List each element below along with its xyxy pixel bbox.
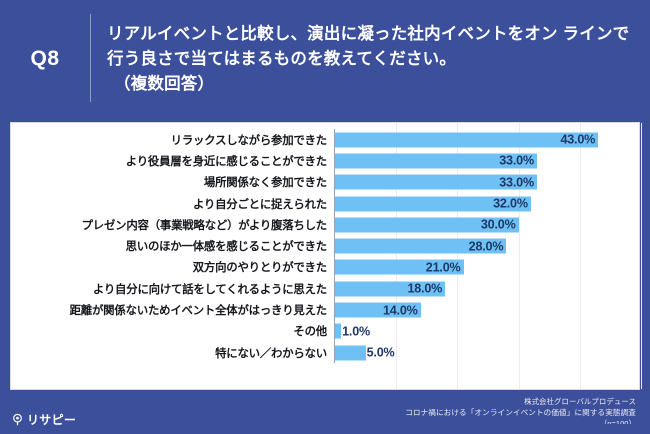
bar-category-label: より自分に向けて話をしてくれるように思えた bbox=[11, 281, 334, 297]
bar: 5.0% bbox=[335, 345, 366, 360]
brand-logo-text: リサピー bbox=[27, 411, 76, 428]
brand-logo[interactable]: リサピー bbox=[0, 404, 120, 434]
bar-value-label: 18.0% bbox=[407, 282, 445, 296]
bar: 43.0% bbox=[335, 132, 598, 147]
question-text: リアルイベントと比較し、演出に凝った社内イベントをオン ラインで行う良さで当ては… bbox=[91, 22, 650, 97]
bar-row: より自分に向けて話をしてくれるように思えた18.0% bbox=[11, 278, 639, 299]
bar-track: 30.0% bbox=[334, 214, 639, 235]
bar-category-label: 場所関係なく参加できた bbox=[11, 174, 334, 190]
bar-track: 32.0% bbox=[334, 193, 639, 214]
bar: 30.0% bbox=[335, 217, 519, 232]
bar-value-label: 21.0% bbox=[426, 260, 464, 274]
bar-value-label: 14.0% bbox=[383, 303, 421, 317]
bar-track: 14.0% bbox=[334, 299, 639, 320]
credit-company: 株式会社グローバルプロデュース bbox=[405, 396, 636, 407]
bar-track: 43.0% bbox=[334, 129, 639, 150]
bar-row: 距離が関係ないためイベント全体がはっきり見えた14.0% bbox=[11, 299, 639, 320]
bar: 33.0% bbox=[335, 175, 537, 190]
bar-row: 特にない／わからない5.0% bbox=[11, 342, 639, 363]
bar-value-label: 33.0% bbox=[499, 175, 537, 189]
bar-value-label: 1.0% bbox=[341, 324, 370, 338]
bar-value-label: 5.0% bbox=[366, 346, 395, 360]
bar: 33.0% bbox=[335, 153, 537, 168]
bar: 21.0% bbox=[335, 260, 464, 275]
search-pin-icon bbox=[11, 413, 24, 426]
bar-value-label: 30.0% bbox=[481, 218, 519, 232]
bar-row: 双方向のやりとりができた21.0% bbox=[11, 257, 639, 278]
bar-value-label: 43.0% bbox=[560, 133, 598, 147]
bar-category-label: 思いのほか一体感を感じることができた bbox=[11, 238, 334, 254]
bar-category-label: より役員層を身近に感じることができた bbox=[11, 153, 334, 169]
bar-track: 18.0% bbox=[334, 278, 639, 299]
bar-category-label: より自分ごとに捉えられた bbox=[11, 196, 334, 212]
gridline bbox=[641, 123, 642, 389]
bar-track: 5.0% bbox=[334, 342, 639, 363]
bar: 32.0% bbox=[335, 196, 531, 211]
bar-category-label: プレゼン内容（事業戦略など）がより腹落ちした bbox=[11, 217, 334, 233]
bar-category-label: 距離が関係ないためイベント全体がはっきり見えた bbox=[11, 302, 334, 318]
credit-survey-name: コロナ禍における「オンラインイベントの価値」に関する実態調査 bbox=[405, 407, 636, 418]
bar-value-label: 32.0% bbox=[493, 197, 531, 211]
bar-category-label: 特にない／わからない bbox=[11, 345, 334, 361]
bar-value-label: 28.0% bbox=[469, 239, 507, 253]
bar-track: 33.0% bbox=[334, 172, 639, 193]
bar-category-label: リラックスしながら参加できた bbox=[11, 132, 334, 148]
bar-track: 28.0% bbox=[334, 235, 639, 256]
bar-category-label: その他 bbox=[11, 323, 334, 339]
bar-chart: リラックスしながら参加できた43.0%より役員層を身近に感じることができた33.… bbox=[11, 129, 639, 387]
bar-track: 1.0% bbox=[334, 321, 639, 342]
question-number: Q8 bbox=[0, 47, 90, 71]
slide-header: Q8 リアルイベントと比較し、演出に凝った社内イベントをオン ラインで行う良さで… bbox=[0, 0, 650, 118]
bar: 28.0% bbox=[335, 239, 506, 254]
bar-value-label: 33.0% bbox=[499, 154, 537, 168]
bar-row: プレゼン内容（事業戦略など）がより腹落ちした30.0% bbox=[11, 214, 639, 235]
bar: 14.0% bbox=[335, 303, 421, 318]
bar: 18.0% bbox=[335, 281, 445, 296]
bar-track: 21.0% bbox=[334, 257, 639, 278]
bar-row: 思いのほか一体感を感じることができた28.0% bbox=[11, 235, 639, 256]
bar-row: 場所関係なく参加できた33.0% bbox=[11, 172, 639, 193]
bar-category-label: 双方向のやりとりができた bbox=[11, 259, 334, 275]
question-line-1: リアルイベントと比較し、演出に凝った社内イベントをオン bbox=[107, 25, 558, 43]
bar-row: その他1.0% bbox=[11, 321, 639, 342]
bar-track: 33.0% bbox=[334, 150, 639, 171]
bar-row: より自分ごとに捉えられた32.0% bbox=[11, 193, 639, 214]
bar: 1.0% bbox=[335, 324, 341, 339]
chart-card: リラックスしながら参加できた43.0%より役員層を身近に感じることができた33.… bbox=[10, 122, 640, 390]
survey-slide: Q8 リアルイベントと比較し、演出に凝った社内イベントをオン ラインで行う良さで… bbox=[0, 0, 650, 434]
question-line-3: （複数回答） bbox=[107, 72, 636, 97]
bar-row: より役員層を身近に感じることができた33.0% bbox=[11, 150, 639, 171]
bar-row: リラックスしながら参加できた43.0% bbox=[11, 129, 639, 150]
